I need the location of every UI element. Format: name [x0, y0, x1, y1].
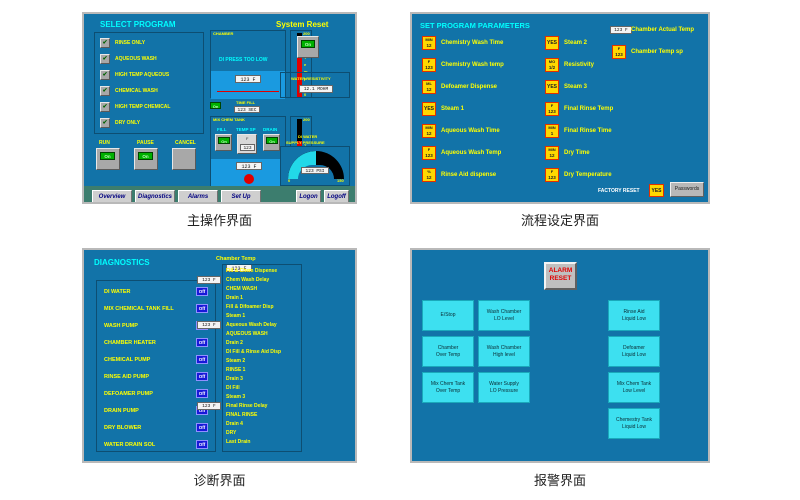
program-label-1: AQUEOUS WASH — [115, 56, 157, 62]
param-c1-button-5[interactable]: F123 — [422, 146, 436, 160]
alarms-screen: ALARM RESET E/StopWash ChamberLO LevelRi… — [410, 248, 710, 463]
chamber-window: CHAMBER DI PRESS TOO LOW 123 F — [210, 30, 286, 98]
alarm-tile-3[interactable]: ChamberOver Temp — [422, 336, 474, 367]
sequence-label-12: Drain 3 — [226, 376, 243, 382]
param-c3-button-1[interactable]: F123 — [612, 45, 626, 59]
water-resistivity-label: WATER RESISTIVITY — [291, 76, 331, 81]
sequence-label-5: Steam 1 — [226, 313, 245, 319]
param-c1-button-2[interactable]: ML12 — [422, 80, 436, 94]
chamber-message: DI PRESS TOO LOW — [219, 57, 268, 63]
params-title: SET PROGRAM PARAMETERS — [420, 21, 530, 30]
sequence-label-8: Drain 2 — [226, 340, 243, 346]
device-state-0[interactable]: Off — [196, 287, 208, 296]
device-label-6: DEFOAMER PUMP — [104, 391, 153, 397]
program-label-0: RINSE ONLY — [115, 40, 145, 46]
param-c1-value-5: 123 — [423, 153, 435, 158]
control-lamp-pause: On — [138, 152, 153, 160]
sequence-timer-15[interactable]: 123 F — [197, 402, 221, 410]
param-c2-label-3: Final Rinse Temp — [564, 106, 613, 112]
device-label-3: CHAMBER HEATER — [104, 340, 156, 346]
param-c3-label-0: Chamber Actual Temp — [631, 27, 694, 33]
alarm-tile-line1-3: Chamber — [438, 345, 459, 352]
caption-params: 流程设定界面 — [410, 210, 710, 229]
mix-temp-sp-unit: F — [246, 136, 248, 141]
device-state-8[interactable]: Off — [196, 423, 208, 432]
alarm-tile-1[interactable]: Wash ChamberLO Level — [478, 300, 530, 331]
param-c1-value-1: 123 — [423, 65, 435, 70]
mix-tank-agitator-indicator — [244, 174, 254, 184]
control-label-pause: PAUSE — [137, 140, 154, 146]
sequence-timer-6[interactable]: 123 F — [197, 321, 221, 329]
program-parameters-screen: SET PROGRAM PARAMETERS MIN12Chemistry Wa… — [410, 12, 710, 204]
main-operation-screen: SELECT PROGRAM ✔RINSE ONLY✔AQUEOUS WASH✔… — [82, 12, 357, 204]
param-c1-label-6: Rinse Aid dispense — [441, 172, 496, 178]
param-c3-value-1: 123 — [613, 52, 625, 57]
alarm-tile-line1-7: Water Supply — [489, 381, 519, 388]
control-label-run: RUN — [99, 140, 110, 146]
param-c2-label-2: Steam 3 — [564, 84, 587, 90]
sequence-label-11: RINSE 1 — [226, 367, 245, 373]
alarm-tile-line2-3: Over Temp — [436, 352, 460, 359]
alarm-tile-4[interactable]: Wash ChamberHigh level — [478, 336, 530, 367]
param-c2-button-6[interactable]: F123 — [545, 168, 559, 182]
device-label-1: MIX CHEMICAL TANK FILL — [104, 306, 174, 312]
alarm-tile-6[interactable]: Mix Chem TankOver Temp — [422, 372, 474, 403]
program-checkbox-4[interactable]: ✔ — [100, 102, 110, 112]
sequence-label-17: Drain 4 — [226, 421, 243, 427]
sequence-label-19: Last Drain — [226, 439, 250, 445]
program-checkbox-0[interactable]: ✔ — [100, 38, 110, 48]
alarm-tile-line2-2: Liquid Low — [622, 316, 646, 323]
alarm-tile-line2-6: Over Temp — [436, 388, 460, 395]
sequence-label-6: Aqueous Wash Delay — [226, 322, 277, 328]
alarm-tile-8[interactable]: Mix Chem TankLow Level — [608, 372, 660, 403]
param-c1-unit-0: MIN — [425, 37, 432, 42]
param-c1-unit-5: F — [428, 147, 430, 152]
sequence-label-2: CHEM WASH — [226, 286, 257, 292]
device-label-2: WASH PUMP — [104, 323, 138, 329]
nav-tab-alarms[interactable]: Alarms — [178, 190, 218, 203]
chamber-actual-temp-value: 123 F — [610, 26, 632, 34]
param-c2-value-1: 1/2 — [546, 65, 558, 70]
param-c3-label-1: Chamber Temp sp — [631, 49, 683, 55]
param-c2-button-2[interactable]: YES — [545, 80, 559, 94]
program-checkbox-2[interactable]: ✔ — [100, 70, 110, 80]
param-c2-unit-4: MIN — [548, 125, 555, 130]
program-checkbox-3[interactable]: ✔ — [100, 86, 110, 96]
param-c2-unit-6: F — [551, 169, 553, 174]
di-pressure-label-2: SUPPLY PRESSURE — [286, 140, 325, 145]
sequence-label-16: FINAL RINSE — [226, 412, 257, 418]
alarm-tile-line1-6: Mix Chem Tank — [431, 381, 465, 388]
mix-drain-label: DRAIN — [263, 127, 277, 132]
session-button-logon[interactable]: Logon — [296, 190, 321, 203]
water-resistivity-value[interactable]: 12.1 MOHM — [299, 85, 333, 93]
time-fill-value[interactable]: 123 SEC — [234, 106, 260, 113]
param-c1-value-4: 12 — [423, 131, 435, 136]
device-state-9[interactable]: Off — [196, 440, 208, 449]
program-checkbox-5[interactable]: ✔ — [100, 118, 110, 128]
alarm-tile-5[interactable]: DefoamerLiquid Low — [608, 336, 660, 367]
nav-tab-diagnostics[interactable]: Diagnostics — [135, 190, 175, 203]
device-label-0: DI WATER — [104, 289, 130, 295]
di-pressure-gauge: 123 PSI 0 150 — [280, 146, 350, 186]
param-c2-value-4: 1 — [546, 131, 558, 136]
param-c2-unit-1: MO — [549, 59, 555, 64]
sequence-label-18: DRY — [226, 430, 236, 436]
alarm-tile-line2-9: Liquid Low — [622, 424, 646, 431]
param-c2-button-4[interactable]: MIN1 — [545, 124, 559, 138]
control-button-cancel[interactable] — [172, 148, 196, 170]
chamber-temp-value[interactable]: 123 F — [235, 75, 261, 83]
alarm-tile-line2-1: LO Level — [494, 316, 514, 323]
bargraph-max-2: 200 — [303, 117, 310, 122]
nav-tab-overview[interactable]: Overview — [92, 190, 132, 203]
alarm-tile-line2-7: LO Pressure — [490, 388, 518, 395]
alarm-reset-button[interactable]: ALARM RESET — [544, 262, 577, 290]
mix-temp-sp-value: 123 — [240, 144, 255, 151]
control-lamp-run: On — [100, 152, 115, 160]
device-label-5: RINSE AID PUMP — [104, 374, 149, 380]
device-state-5[interactable]: Off — [196, 372, 208, 381]
param-c1-label-1: Chemistry Wash temp — [441, 62, 504, 68]
system-reset-button[interactable]: On — [297, 36, 319, 58]
param-c2-unit-5: MIN — [548, 147, 555, 152]
mix-drain-lamp: On — [266, 137, 278, 144]
alarm-tile-line1-4: Wash Chamber — [487, 345, 522, 352]
param-c1-value-0: 12 — [423, 43, 435, 48]
control-button-pause[interactable]: On — [134, 148, 158, 170]
param-c1-unit-6: % — [427, 169, 431, 174]
alarm-tile-7[interactable]: Water SupplyLO Pressure — [478, 372, 530, 403]
param-c1-button-0[interactable]: MIN12 — [422, 36, 436, 50]
device-state-6[interactable]: Off — [196, 389, 208, 398]
alarm-tile-line1-0: E/Stop — [440, 312, 455, 319]
alarm-tile-line1-8: Mix Chem Tank — [617, 381, 651, 388]
param-c2-button-5[interactable]: MIN12 — [545, 146, 559, 160]
mix-fill-lamp: On — [218, 137, 230, 144]
alarm-tile-line1-9: Chemestry Tank — [616, 417, 652, 424]
di-pressure-scale-min: 0 — [288, 178, 290, 183]
di-pressure-scale-max: 150 — [337, 178, 344, 183]
alarm-tile-2[interactable]: Rinse AidLiquid Low — [608, 300, 660, 331]
device-state-4[interactable]: Off — [196, 355, 208, 364]
alarm-tile-line2-8: Low Level — [623, 388, 646, 395]
param-c2-value-5: 12 — [546, 153, 558, 158]
param-c2-label-4: Final Rinse Time — [564, 128, 612, 134]
sequence-label-3: Drain 1 — [226, 295, 243, 301]
caption-main: 主操作界面 — [82, 210, 357, 229]
param-c1-button-6[interactable]: %12 — [422, 168, 436, 182]
water-resistivity-group: WATER RESISTIVITY 12.1 MOHM — [280, 72, 350, 98]
param-c1-unit-2: ML — [426, 81, 432, 86]
alarm-tile-0[interactable]: E/Stop — [422, 300, 474, 331]
param-c1-label-0: Chemistry Wash Time — [441, 40, 503, 46]
factory-reset-label: FACTORY RESET — [598, 188, 640, 194]
select-program-title: SELECT PROGRAM — [100, 20, 176, 29]
sequence-label-14: Steam 3 — [226, 394, 245, 400]
param-c1-unit-1: F — [428, 59, 430, 64]
alarm-tile-line1-2: Rinse Aid — [623, 309, 644, 316]
param-c1-button-3[interactable]: YES — [422, 102, 436, 116]
param-c1-button-1[interactable]: F123 — [422, 58, 436, 72]
device-state-3[interactable]: Off — [196, 338, 208, 347]
mix-tank-temp-value[interactable]: 123 F — [236, 162, 262, 170]
param-c2-button-1[interactable]: MO1/2 — [545, 58, 559, 72]
mix-fill-label: FILL — [217, 127, 227, 132]
di-pressure-label-1: DI WATER — [298, 134, 317, 139]
session-button-logoff[interactable]: Logoff — [324, 190, 349, 203]
program-checkbox-1[interactable]: ✔ — [100, 54, 110, 64]
di-pressure-value[interactable]: 123 PSI — [301, 167, 329, 174]
mix-fill-button[interactable]: On — [215, 134, 232, 151]
param-c1-unit-4: MIN — [425, 125, 432, 130]
program-label-5: DRY ONLY — [115, 120, 140, 126]
sequence-label-13: DI Fill — [226, 385, 240, 391]
diag-chamber-temp-label: Chamber Temp — [216, 256, 256, 262]
param-c1-label-2: Defoamer Dispense — [441, 84, 497, 90]
sequence-label-9: DI Fill & Rinse Aid Disp — [226, 349, 281, 355]
alarm-tile-line1-5: Defoamer — [623, 345, 645, 352]
program-label-3: CHEMICAL WASH — [115, 88, 158, 94]
alarm-reset-line1: ALARM — [546, 267, 575, 275]
param-c1-value-6: 12 — [423, 175, 435, 180]
system-reset-title: System Reset — [276, 20, 328, 29]
device-state-1[interactable]: Off — [196, 304, 208, 313]
mix-temp-sp-label: TEMP SP — [236, 127, 256, 132]
control-label-cancel: CANCEL — [175, 140, 196, 146]
time-fill-lamp[interactable]: On — [210, 102, 221, 109]
device-label-8: DRY BLOWER — [104, 425, 141, 431]
diagnostics-screen: DIAGNOSTICS Chamber Temp 123 F DI WATERO… — [82, 248, 357, 463]
program-label-2: HIGH TEMP AQUEOUS — [115, 72, 169, 78]
alarm-tile-line1-1: Wash Chamber — [487, 309, 522, 316]
alarm-tile-line2-5: Liquid Low — [622, 352, 646, 359]
param-c2-value-3: 123 — [546, 109, 558, 114]
param-c1-value-2: 12 — [423, 87, 435, 92]
device-label-4: CHEMICAL PUMP — [104, 357, 150, 363]
sequence-label-4: Fill & Difoamer Disp — [226, 304, 274, 310]
device-label-9: WATER DRAIN SOL — [104, 442, 155, 448]
alarm-tile-line2-4: High level — [493, 352, 515, 359]
control-button-run[interactable]: On — [96, 148, 120, 170]
param-c2-unit-3: F — [551, 103, 553, 108]
system-reset-lamp: On — [301, 40, 315, 48]
passwords-button[interactable]: Passwords — [670, 182, 704, 197]
mix-temp-sp-button[interactable]: F 123 — [237, 134, 257, 154]
param-c1-label-3: Steam 1 — [441, 106, 464, 112]
param-c2-value-6: 123 — [546, 175, 558, 180]
caption-alarms: 报警界面 — [410, 470, 710, 489]
program-label-4: HIGH TEMP CHEMICAL — [115, 104, 170, 110]
param-c2-label-0: Steam 2 — [564, 40, 587, 46]
caption-diagnostics: 诊断界面 — [82, 470, 357, 489]
sequence-label-0: Fill & Chem Dispense — [226, 268, 277, 274]
param-c1-label-4: Aqueous Wash Time — [441, 128, 500, 134]
sequence-timer-1[interactable]: 123 F — [197, 276, 221, 284]
time-fill-label: TIME FILL — [236, 100, 255, 105]
param-c2-label-1: Resistivity — [564, 62, 594, 68]
device-label-7: DRAIN PUMP — [104, 408, 139, 414]
mix-drain-button[interactable]: On — [263, 134, 280, 151]
sequence-label-7: AQUEOUS WASH — [226, 331, 268, 337]
param-c2-button-0[interactable]: YES — [545, 36, 559, 50]
param-c2-label-6: Dry Temperature — [564, 172, 612, 178]
sequence-label-1: Chem Wash Delay — [226, 277, 269, 283]
factory-reset-button[interactable]: YES — [649, 184, 664, 197]
param-c1-button-4[interactable]: MIN12 — [422, 124, 436, 138]
select-program-group — [94, 32, 204, 134]
param-c1-label-5: Aqueous Wash Temp — [441, 150, 501, 156]
mix-chem-tank-window: MIX CHEM TANK FILL On TEMP SP F 123 DRAI… — [210, 116, 286, 188]
sequence-label-10: Steam 2 — [226, 358, 245, 364]
diagnostics-title: DIAGNOSTICS — [94, 258, 150, 267]
mix-chem-tank-title: MIX CHEM TANK — [213, 117, 245, 122]
alarm-reset-line2: RESET — [546, 275, 575, 283]
sequence-label-15: Final Rinse Delay — [226, 403, 267, 409]
nav-tab-set-up[interactable]: Set Up — [221, 190, 261, 203]
param-c2-label-5: Dry Time — [564, 150, 590, 156]
param-c2-button-3[interactable]: F123 — [545, 102, 559, 116]
chamber-level-line — [217, 91, 279, 92]
chamber-title: CHAMBER — [213, 31, 233, 36]
alarm-tile-9[interactable]: Chemestry TankLiquid Low — [608, 408, 660, 439]
param-c3-unit-1: F — [618, 46, 620, 51]
